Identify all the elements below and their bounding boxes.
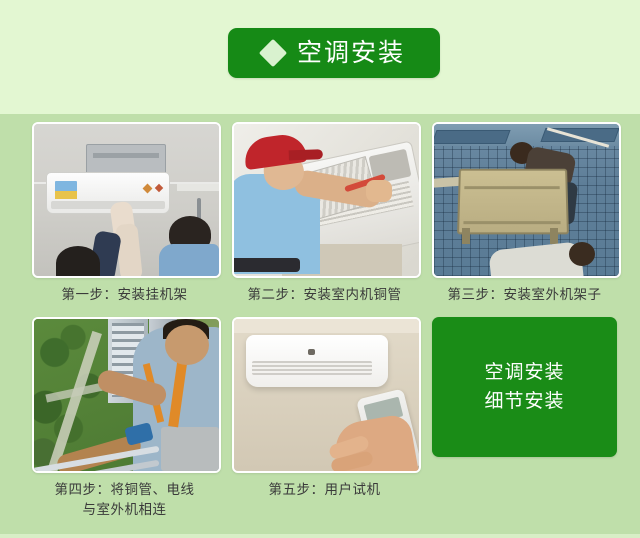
remote-test-illustration	[234, 319, 419, 471]
highrise-connection-illustration	[34, 319, 219, 471]
step-card-2[interactable]: 第二步：安装室内机铜管	[232, 122, 432, 305]
diamond-icon	[259, 39, 287, 67]
background-band-bottom	[0, 534, 640, 538]
step-card-1[interactable]: 第一步：安装挂机架	[32, 122, 232, 305]
promo-page: 空调安装	[0, 0, 640, 538]
step-photo-1[interactable]	[32, 122, 221, 278]
step-card-3[interactable]: 第三步：安装室外机架子	[432, 122, 632, 305]
indoor-unit-bracket-illustration	[34, 124, 219, 276]
step-caption-3: 第三步：安装室外机架子	[432, 278, 617, 305]
page-title-badge: 空调安装	[228, 28, 440, 78]
step-caption-5: 第五步：用户试机	[232, 473, 417, 500]
step-photo-5[interactable]	[232, 317, 421, 473]
step-photo-3[interactable]	[432, 122, 621, 278]
steps-row-1: 第一步：安装挂机架	[0, 122, 640, 305]
step-caption-2: 第二步：安装室内机铜管	[232, 278, 417, 305]
step-card-5[interactable]: 第五步：用户试机	[232, 317, 432, 520]
copper-pipe-install-illustration	[234, 124, 419, 276]
step-photo-4[interactable]	[32, 317, 221, 473]
steps-row-2: 第四步：将铜管、电线 与室外机相连 第五步：用户试机	[0, 317, 640, 520]
page-title: 空调安装	[297, 41, 405, 66]
step-caption-4: 第四步：将铜管、电线 与室外机相连	[32, 473, 217, 520]
rooftop-bracket-illustration	[434, 124, 619, 276]
step-caption-1: 第一步：安装挂机架	[32, 278, 217, 305]
promo-panel[interactable]: 空调安装 细节安装	[432, 317, 617, 457]
step-card-4[interactable]: 第四步：将铜管、电线 与室外机相连	[32, 317, 232, 520]
step-photo-2[interactable]	[232, 122, 421, 278]
promo-text: 空调安装 细节安装	[484, 358, 564, 416]
steps-grid: 第一步：安装挂机架	[0, 122, 640, 520]
promo-card[interactable]: 空调安装 细节安装	[432, 317, 632, 520]
